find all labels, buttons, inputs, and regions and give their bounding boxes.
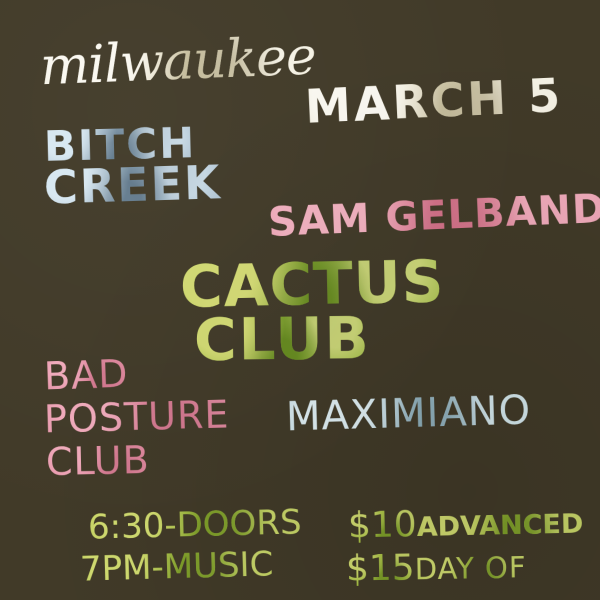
band-name-bitch-creek-line2: CREEK: [43, 159, 222, 211]
gig-poster: milwaukee MARCH 5 BITCH CREEK SAM GELBAN…: [0, 0, 600, 600]
venue-name-line2: CLUB: [194, 309, 371, 369]
music-time: 7PM-MUSIC: [80, 547, 274, 586]
show-date: MARCH 5: [304, 72, 564, 130]
price-door-row: $15DAY OF: [346, 548, 527, 587]
band-name-bad-posture-club-line1: BAD: [43, 355, 129, 396]
band-name-bad-posture-club-line3: CLUB: [46, 441, 150, 481]
price-door-amount: $15: [346, 547, 415, 589]
band-name-maximiano: MAXIMIANO: [285, 391, 531, 438]
city-name: milwaukee: [39, 31, 316, 94]
price-advance-row: $10ADVANCED: [348, 504, 584, 545]
price-door-label: DAY OF: [414, 550, 526, 586]
doors-time: 6:30-DOORS: [88, 505, 302, 544]
price-advance-label: ADVANCED: [416, 509, 583, 543]
band-name-sam-gelband: SAM GELBAND: [267, 189, 600, 243]
band-name-bad-posture-club-line2: POSTURE: [44, 395, 230, 438]
price-advance-amount: $10: [348, 504, 418, 546]
